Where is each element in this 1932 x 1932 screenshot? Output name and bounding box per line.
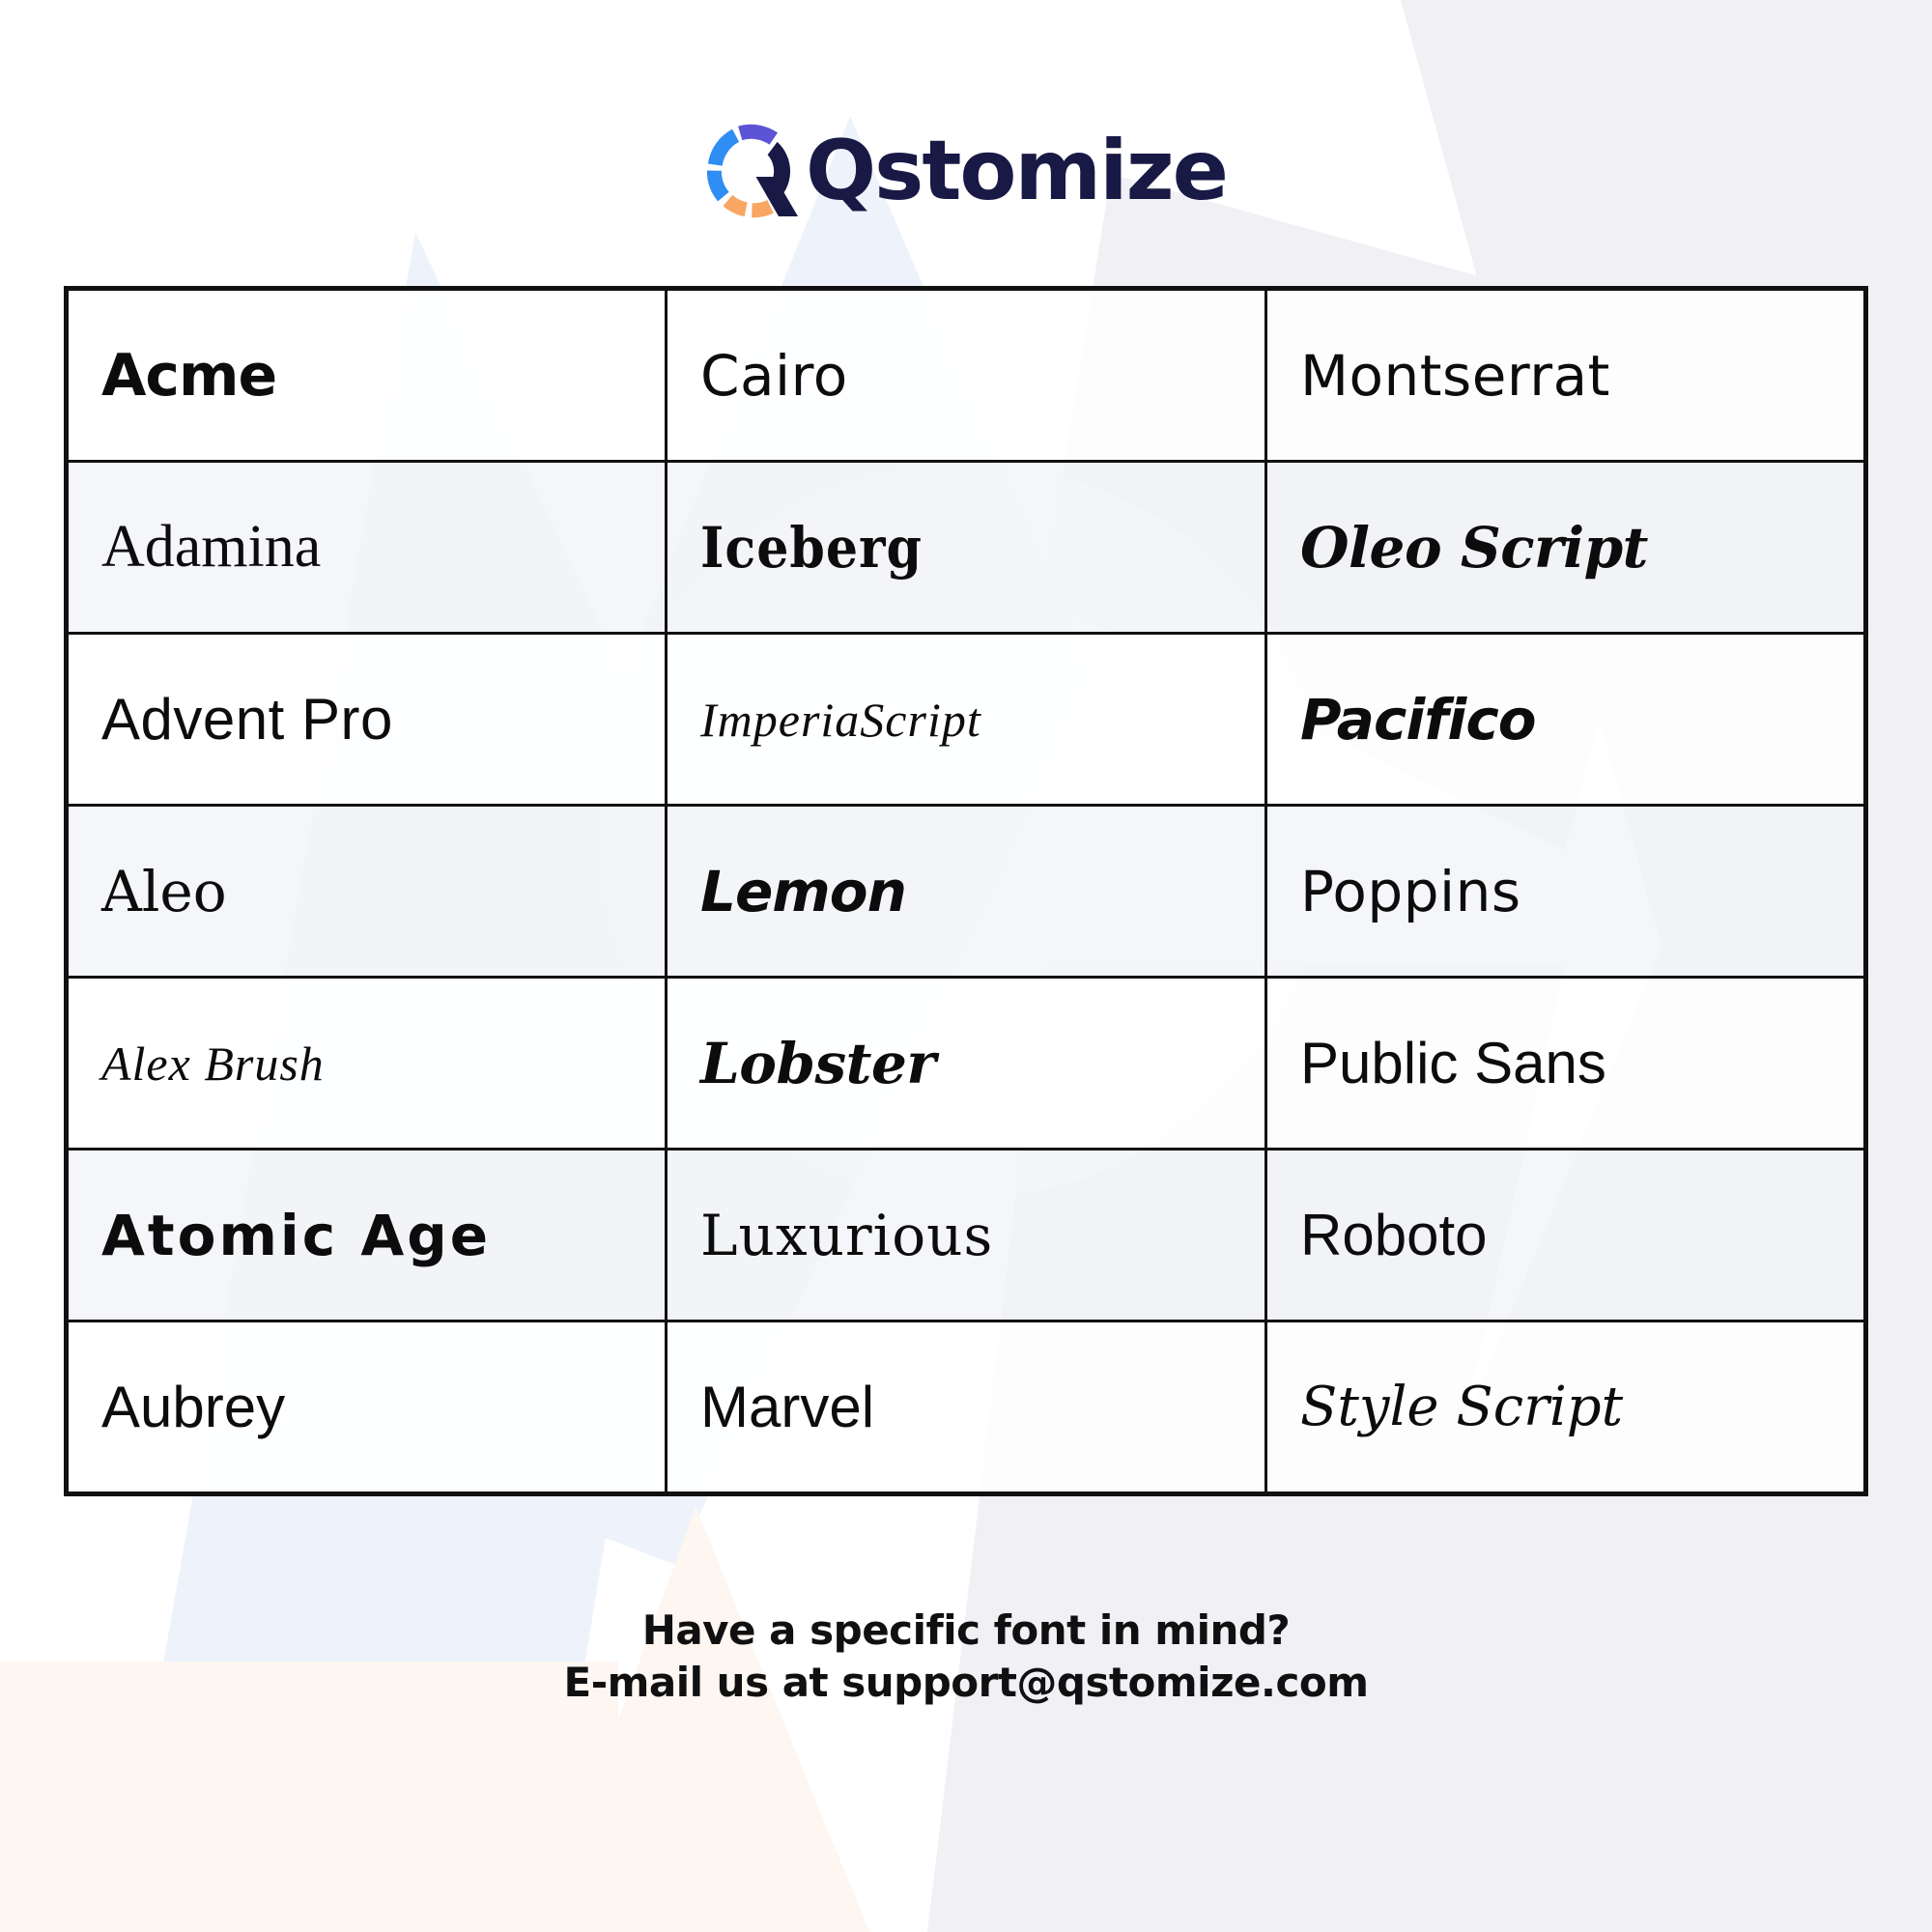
font-name-label: Public Sans — [1300, 1031, 1606, 1095]
font-cell[interactable]: Montserrat — [1266, 289, 1866, 462]
font-name-label: Poppins — [1300, 859, 1521, 924]
font-name-label: Advent Pro — [101, 687, 393, 752]
font-cell[interactable]: Adamina — [67, 462, 667, 634]
table-row: Aleo Lemon Poppins — [67, 806, 1866, 978]
table-row: Atomic Age Luxurious Roboto — [67, 1150, 1866, 1321]
logo-segment-orange-left — [727, 201, 746, 210]
font-cell[interactable]: Lemon — [667, 806, 1266, 978]
font-name-label: ImperiaScript — [700, 693, 981, 747]
brand-header: Qstomize — [705, 114, 1227, 228]
footer-email-line[interactable]: E-mail us at support@qstomize.com — [564, 1657, 1369, 1709]
font-table-body: Acme Cairo Montserrat Adamina Iceberg Ol… — [67, 289, 1866, 1494]
logo-segment-orange-right — [752, 207, 770, 211]
font-name-label: Roboto — [1300, 1203, 1487, 1267]
font-cell[interactable]: Public Sans — [1266, 978, 1866, 1150]
font-name-label: Montserrat — [1300, 343, 1610, 409]
font-cell[interactable]: ImperiaScript — [667, 634, 1266, 806]
font-name-label: Adamina — [101, 514, 321, 580]
table-row: Alex Brush Lobster Public Sans — [67, 978, 1866, 1150]
font-name-label: Aubrey — [101, 1375, 285, 1439]
font-cell[interactable]: Oleo Script — [1266, 462, 1866, 634]
font-cell[interactable]: Lobster — [667, 978, 1266, 1150]
footer-contact-block: Have a specific font in mind? E-mail us … — [564, 1605, 1369, 1709]
font-cell[interactable]: Aleo — [67, 806, 667, 978]
font-name-label: Luxurious — [700, 1203, 993, 1268]
font-name-label: Marvel — [700, 1375, 874, 1439]
table-row: Advent Pro ImperiaScript Pacifico — [67, 634, 1866, 806]
font-specimen-table: Acme Cairo Montserrat Adamina Iceberg Ol… — [64, 286, 1868, 1496]
footer-prompt-line: Have a specific font in mind? — [564, 1605, 1369, 1657]
logo-segment-blue-upper — [715, 135, 735, 164]
qstomize-logo-icon — [705, 123, 802, 219]
font-cell[interactable]: Luxurious — [667, 1150, 1266, 1321]
font-name-label: Alex Brush — [101, 1037, 325, 1091]
font-cell[interactable]: Advent Pro — [67, 634, 667, 806]
font-cell[interactable]: Cairo — [667, 289, 1266, 462]
table-row: Adamina Iceberg Oleo Script — [67, 462, 1866, 634]
logo-segment-blue-lower — [714, 171, 724, 197]
page-root: Qstomize Acme Cairo Montserrat Adamina I… — [0, 0, 1932, 1932]
font-cell[interactable]: Iceberg — [667, 462, 1266, 634]
font-name-label: Acme — [101, 342, 276, 410]
font-name-label: Iceberg — [700, 515, 923, 581]
table-row: Acme Cairo Montserrat — [67, 289, 1866, 462]
font-cell[interactable]: Acme — [67, 289, 667, 462]
brand-wordmark: Qstomize — [806, 129, 1227, 213]
font-cell[interactable]: Roboto — [1266, 1150, 1866, 1321]
font-cell[interactable]: Style Script — [1266, 1321, 1866, 1494]
font-name-label: Lemon — [700, 859, 906, 924]
font-name-label: Style Script — [1300, 1376, 1623, 1438]
font-cell[interactable]: Pacifico — [1266, 634, 1866, 806]
logo-segment-purple — [740, 131, 774, 138]
table-row: Aubrey Marvel Style Script — [67, 1321, 1866, 1494]
font-cell[interactable]: Aubrey — [67, 1321, 667, 1494]
font-name-label: Lobster — [700, 1031, 935, 1096]
font-name-label: Oleo Script — [1300, 515, 1648, 581]
font-name-label: Cairo — [700, 343, 848, 409]
font-cell[interactable]: Atomic Age — [67, 1150, 667, 1321]
font-name-label: Aleo — [101, 859, 227, 924]
font-cell[interactable]: Poppins — [1266, 806, 1866, 978]
font-name-label: Pacifico — [1300, 687, 1536, 753]
font-cell[interactable]: Alex Brush — [67, 978, 667, 1150]
font-name-label: Atomic Age — [101, 1203, 491, 1268]
font-cell[interactable]: Marvel — [667, 1321, 1266, 1494]
